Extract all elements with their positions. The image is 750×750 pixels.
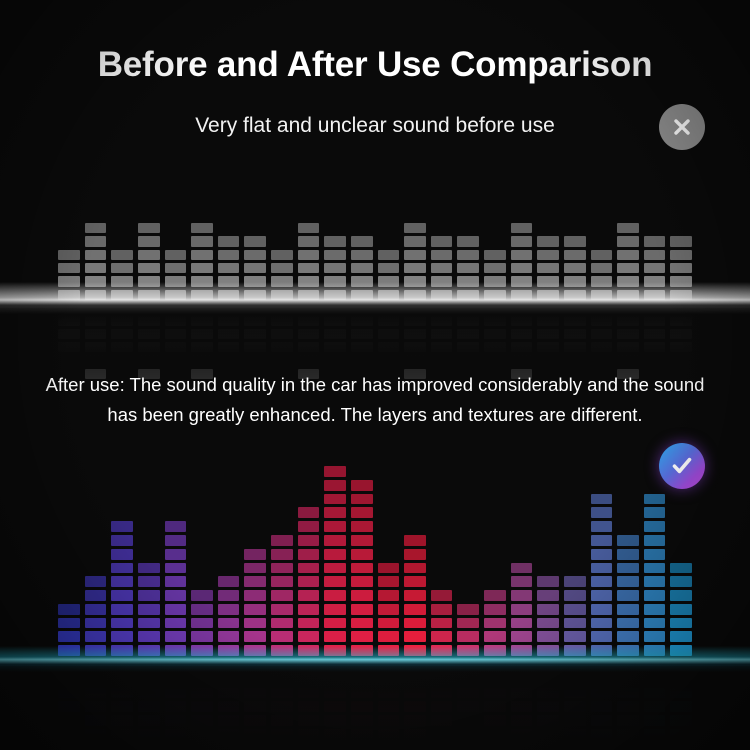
equalizer-segment bbox=[670, 329, 692, 339]
equalizer-segment bbox=[138, 688, 160, 699]
equalizer-segment bbox=[564, 250, 586, 260]
equalizer-segment bbox=[457, 674, 479, 685]
equalizer-segment bbox=[591, 715, 613, 726]
equalizer-segment bbox=[138, 315, 160, 325]
equalizer-segment bbox=[591, 535, 613, 546]
equalizer-segment bbox=[271, 342, 293, 352]
equalizer-segment bbox=[351, 590, 373, 601]
equalizer-segment bbox=[58, 688, 80, 699]
equalizer-segment bbox=[617, 604, 639, 615]
equalizer-column bbox=[271, 466, 293, 656]
equalizer-segment bbox=[271, 631, 293, 642]
equalizer-segment bbox=[218, 576, 240, 587]
after-description: After use: The sound quality in the car … bbox=[35, 370, 715, 430]
equalizer-segment bbox=[617, 729, 639, 740]
equalizer-segment bbox=[564, 618, 586, 629]
equalizer-segment bbox=[191, 263, 213, 273]
equalizer-segment bbox=[244, 250, 266, 260]
equalizer-column bbox=[138, 196, 160, 300]
equalizer-segment bbox=[111, 604, 133, 615]
equalizer-segment bbox=[537, 715, 559, 726]
equalizer-column bbox=[218, 660, 240, 750]
equalizer-segment bbox=[564, 674, 586, 685]
equalizer-column bbox=[244, 660, 266, 750]
equalizer-segment bbox=[58, 604, 80, 615]
equalizer-segment bbox=[111, 290, 133, 300]
equalizer-segment bbox=[644, 688, 666, 699]
equalizer-segment bbox=[85, 590, 107, 601]
equalizer-column bbox=[404, 466, 426, 656]
equalizer-segment bbox=[298, 604, 320, 615]
equalizer-segment bbox=[298, 521, 320, 532]
equalizer-segment bbox=[244, 674, 266, 685]
equalizer-segment bbox=[191, 290, 213, 300]
equalizer-segment bbox=[298, 576, 320, 587]
equalizer-segment bbox=[191, 356, 213, 366]
equalizer-segment bbox=[111, 631, 133, 642]
equalizer-segment bbox=[404, 729, 426, 740]
equalizer-segment bbox=[324, 576, 346, 587]
equalizer-segment bbox=[404, 631, 426, 642]
equalizer-segment bbox=[138, 276, 160, 286]
equalizer-segment bbox=[324, 250, 346, 260]
equalizer-segment bbox=[298, 236, 320, 246]
equalizer-segment bbox=[191, 631, 213, 642]
equalizer-segment bbox=[378, 590, 400, 601]
equalizer-segment bbox=[324, 494, 346, 505]
equalizer-column bbox=[378, 466, 400, 656]
equalizer-segment bbox=[404, 688, 426, 699]
equalizer-segment bbox=[644, 236, 666, 246]
equalizer-segment bbox=[58, 342, 80, 352]
equalizer-segment bbox=[404, 645, 426, 656]
equalizer-segment bbox=[58, 250, 80, 260]
equalizer-segment bbox=[324, 329, 346, 339]
equalizer-column bbox=[244, 466, 266, 656]
equalizer-segment bbox=[617, 631, 639, 642]
equalizer-segment bbox=[644, 604, 666, 615]
equalizer-segment bbox=[404, 576, 426, 587]
equalizer-segment bbox=[298, 743, 320, 750]
equalizer-column bbox=[511, 466, 533, 656]
equalizer-segment bbox=[431, 715, 453, 726]
equalizer-segment bbox=[537, 688, 559, 699]
equalizer-segment bbox=[564, 645, 586, 656]
equalizer-segment bbox=[298, 701, 320, 712]
equalizer-segment bbox=[511, 276, 533, 286]
equalizer-segment bbox=[58, 631, 80, 642]
equalizer-segment bbox=[564, 236, 586, 246]
equalizer-segment bbox=[351, 507, 373, 518]
equalizer-segment bbox=[85, 356, 107, 366]
equalizer-segment bbox=[670, 563, 692, 574]
equalizer-segment bbox=[351, 250, 373, 260]
equalizer-segment bbox=[511, 250, 533, 260]
equalizer-segment bbox=[85, 688, 107, 699]
equalizer-segment bbox=[484, 329, 506, 339]
equalizer-segment bbox=[351, 480, 373, 491]
equalizer-segment bbox=[324, 342, 346, 352]
equalizer-segment bbox=[431, 329, 453, 339]
equalizer-segment bbox=[537, 576, 559, 587]
equalizer-segment bbox=[191, 618, 213, 629]
equalizer-segment bbox=[670, 645, 692, 656]
equalizer-segment bbox=[138, 356, 160, 366]
equalizer-segment bbox=[511, 743, 533, 750]
equalizer-segment bbox=[591, 618, 613, 629]
equalizer-segment bbox=[298, 329, 320, 339]
equalizer-segment bbox=[591, 701, 613, 712]
equalizer-segment bbox=[324, 563, 346, 574]
equalizer-segment bbox=[404, 743, 426, 750]
equalizer-column bbox=[351, 196, 373, 300]
equalizer-segment bbox=[351, 236, 373, 246]
equalizer-column bbox=[58, 466, 80, 656]
equalizer-segment bbox=[511, 618, 533, 629]
equalizer-segment bbox=[165, 729, 187, 740]
equalizer-segment bbox=[58, 263, 80, 273]
equalizer-segment bbox=[58, 315, 80, 325]
equalizer-segment bbox=[591, 494, 613, 505]
equalizer-column bbox=[511, 196, 533, 300]
equalizer-segment bbox=[564, 660, 586, 671]
equalizer-segment bbox=[484, 715, 506, 726]
equalizer-segment bbox=[484, 645, 506, 656]
equalizer-segment bbox=[218, 290, 240, 300]
equalizer-segment bbox=[484, 618, 506, 629]
equalizer-segment bbox=[351, 276, 373, 286]
equalizer-segment bbox=[351, 494, 373, 505]
equalizer-segment bbox=[244, 276, 266, 286]
equalizer-segment bbox=[537, 276, 559, 286]
equalizer-segment bbox=[644, 576, 666, 587]
equalizer-segment bbox=[378, 263, 400, 273]
equalizer-segment bbox=[404, 329, 426, 339]
equalizer-segment bbox=[324, 521, 346, 532]
page-title: Before and After Use Comparison bbox=[0, 45, 750, 85]
equalizer-segment bbox=[457, 604, 479, 615]
equalizer-column bbox=[617, 466, 639, 656]
equalizer-segment bbox=[511, 342, 533, 352]
equalizer-segment bbox=[298, 729, 320, 740]
equalizer-segment bbox=[298, 715, 320, 726]
equalizer-column bbox=[218, 196, 240, 300]
equalizer-segment bbox=[351, 290, 373, 300]
equalizer-segment bbox=[85, 263, 107, 273]
equalizer-segment bbox=[591, 660, 613, 671]
equalizer-segment bbox=[378, 701, 400, 712]
equalizer-column bbox=[484, 196, 506, 300]
equalizer-segment bbox=[165, 521, 187, 532]
equalizer-segment bbox=[138, 618, 160, 629]
equalizer-segment bbox=[111, 590, 133, 601]
equalizer-segment bbox=[484, 302, 506, 312]
equalizer-segment bbox=[378, 276, 400, 286]
equalizer-segment bbox=[244, 315, 266, 325]
equalizer-segment bbox=[564, 315, 586, 325]
equalizer-segment bbox=[644, 276, 666, 286]
equalizer-segment bbox=[218, 342, 240, 352]
equalizer-segment bbox=[404, 315, 426, 325]
equalizer-segment bbox=[431, 302, 453, 312]
equalizer-segment bbox=[138, 729, 160, 740]
equalizer-segment bbox=[644, 715, 666, 726]
equalizer-segment bbox=[537, 618, 559, 629]
equalizer-segment bbox=[271, 729, 293, 740]
equalizer-segment bbox=[378, 290, 400, 300]
equalizer-segment bbox=[511, 563, 533, 574]
equalizer-segment bbox=[670, 263, 692, 273]
equalizer-segment bbox=[404, 276, 426, 286]
equalizer-segment bbox=[617, 549, 639, 560]
equalizer-segment bbox=[218, 604, 240, 615]
equalizer-segment bbox=[644, 263, 666, 273]
equalizer-segment bbox=[271, 250, 293, 260]
equalizer-segment bbox=[351, 618, 373, 629]
equalizer-column bbox=[457, 196, 479, 300]
equalizer-segment bbox=[191, 660, 213, 671]
equalizer-segment bbox=[537, 315, 559, 325]
equalizer-column bbox=[191, 466, 213, 656]
equalizer-segment bbox=[591, 674, 613, 685]
equalizer-segment bbox=[644, 494, 666, 505]
equalizer-segment bbox=[404, 715, 426, 726]
equalizer-segment bbox=[324, 674, 346, 685]
equalizer-segment bbox=[165, 701, 187, 712]
equalizer-column bbox=[58, 196, 80, 300]
equalizer-segment bbox=[271, 674, 293, 685]
equalizer-segment bbox=[591, 521, 613, 532]
equalizer-segment bbox=[644, 521, 666, 532]
equalizer-segment bbox=[591, 276, 613, 286]
equalizer-segment bbox=[670, 715, 692, 726]
equalizer-segment bbox=[191, 329, 213, 339]
equalizer-segment bbox=[218, 263, 240, 273]
equalizer-segment bbox=[431, 618, 453, 629]
equalizer-segment bbox=[537, 660, 559, 671]
equalizer-segment bbox=[644, 631, 666, 642]
equalizer-segment bbox=[165, 688, 187, 699]
equalizer-column bbox=[537, 660, 559, 750]
equalizer-segment bbox=[617, 674, 639, 685]
equalizer-segment bbox=[218, 236, 240, 246]
equalizer-segment bbox=[165, 276, 187, 286]
equalizer-segment bbox=[244, 645, 266, 656]
equalizer-column bbox=[85, 660, 107, 750]
equalizer-segment bbox=[484, 342, 506, 352]
equalizer-segment bbox=[191, 674, 213, 685]
equalizer-segment bbox=[138, 290, 160, 300]
equalizer-segment bbox=[537, 290, 559, 300]
equalizer-segment bbox=[378, 715, 400, 726]
equalizer-segment bbox=[351, 688, 373, 699]
equalizer-segment bbox=[670, 290, 692, 300]
equalizer-segment bbox=[591, 631, 613, 642]
equalizer-segment bbox=[271, 329, 293, 339]
equalizer-segment bbox=[378, 618, 400, 629]
equalizer-segment bbox=[271, 645, 293, 656]
equalizer-column bbox=[111, 196, 133, 300]
equalizer-segment bbox=[111, 263, 133, 273]
equalizer-segment bbox=[617, 342, 639, 352]
equalizer-segment bbox=[591, 688, 613, 699]
equalizer-column bbox=[244, 196, 266, 300]
equalizer-segment bbox=[404, 223, 426, 233]
equalizer-segment bbox=[138, 590, 160, 601]
equalizer-segment bbox=[138, 563, 160, 574]
equalizer-segment bbox=[85, 290, 107, 300]
equalizer-column bbox=[218, 466, 240, 656]
equalizer-column bbox=[111, 660, 133, 750]
equalizer-segment bbox=[111, 535, 133, 546]
equalizer-segment bbox=[85, 674, 107, 685]
equalizer-segment bbox=[244, 342, 266, 352]
equalizer-segment bbox=[244, 302, 266, 312]
equalizer-segment bbox=[404, 701, 426, 712]
equalizer-segment bbox=[617, 302, 639, 312]
equalizer-segment bbox=[85, 276, 107, 286]
equalizer-segment bbox=[537, 236, 559, 246]
equalizer-segment bbox=[351, 521, 373, 532]
equalizer-segment bbox=[404, 660, 426, 671]
equalizer-segment bbox=[351, 576, 373, 587]
equalizer-column bbox=[564, 466, 586, 656]
equalizer-segment bbox=[431, 315, 453, 325]
equalizer-segment bbox=[484, 660, 506, 671]
equalizer-segment bbox=[564, 356, 586, 366]
equalizer-segment bbox=[378, 329, 400, 339]
equalizer-segment bbox=[138, 329, 160, 339]
equalizer-segment bbox=[165, 329, 187, 339]
equalizer-segment bbox=[404, 342, 426, 352]
equalizer-segment bbox=[644, 729, 666, 740]
equalizer-segment bbox=[165, 631, 187, 642]
equalizer-segment bbox=[111, 729, 133, 740]
equalizer-segment bbox=[617, 276, 639, 286]
equalizer-segment bbox=[351, 535, 373, 546]
equalizer-segment bbox=[431, 701, 453, 712]
equalizer-segment bbox=[351, 342, 373, 352]
equalizer-segment bbox=[484, 263, 506, 273]
equalizer-segment bbox=[511, 263, 533, 273]
equalizer-segment bbox=[138, 645, 160, 656]
equalizer-segment bbox=[85, 701, 107, 712]
equalizer-segment bbox=[165, 743, 187, 750]
equalizer-segment bbox=[670, 674, 692, 685]
equalizer-column bbox=[85, 196, 107, 300]
equalizer-segment bbox=[378, 563, 400, 574]
equalizer-segment bbox=[404, 674, 426, 685]
equalizer-segment bbox=[484, 315, 506, 325]
equalizer-segment bbox=[457, 342, 479, 352]
equalizer-segment bbox=[191, 315, 213, 325]
equalizer-segment bbox=[457, 618, 479, 629]
equalizer-segment bbox=[431, 290, 453, 300]
equalizer-segment bbox=[511, 604, 533, 615]
equalizer-segment bbox=[298, 660, 320, 671]
equalizer-segment bbox=[271, 660, 293, 671]
equalizer-segment bbox=[457, 263, 479, 273]
equalizer-segment bbox=[111, 276, 133, 286]
equalizer-segment bbox=[404, 590, 426, 601]
equalizer-segment bbox=[670, 701, 692, 712]
equalizer-column bbox=[324, 196, 346, 300]
equalizer-segment bbox=[218, 688, 240, 699]
equalizer-segment bbox=[85, 302, 107, 312]
equalizer-segment bbox=[165, 549, 187, 560]
equalizer-segment bbox=[191, 276, 213, 286]
equalizer-column bbox=[511, 660, 533, 750]
equalizer-segment bbox=[378, 604, 400, 615]
equalizer-segment bbox=[457, 276, 479, 286]
equalizer-segment bbox=[165, 563, 187, 574]
equalizer-segment bbox=[271, 576, 293, 587]
equalizer-column bbox=[324, 660, 346, 750]
equalizer-segment bbox=[617, 743, 639, 750]
equalizer-segment bbox=[617, 263, 639, 273]
equalizer-segment bbox=[351, 356, 373, 366]
equalizer-segment bbox=[457, 660, 479, 671]
product-comparison-banner: Before and After Use Comparison Very fla… bbox=[0, 0, 750, 750]
equalizer-segment bbox=[351, 674, 373, 685]
equalizer-segment bbox=[484, 276, 506, 286]
equalizer-segment bbox=[138, 743, 160, 750]
equalizer-segment bbox=[591, 290, 613, 300]
equalizer-segment bbox=[644, 743, 666, 750]
equalizer-segment bbox=[617, 290, 639, 300]
equalizer-segment bbox=[351, 631, 373, 642]
equalizer-segment bbox=[218, 618, 240, 629]
equalizer-segment bbox=[457, 236, 479, 246]
equalizer-segment bbox=[591, 563, 613, 574]
equalizer-segment bbox=[591, 549, 613, 560]
equalizer-column bbox=[644, 660, 666, 750]
equalizer-column bbox=[670, 196, 692, 300]
equalizer-segment bbox=[431, 631, 453, 642]
equalizer-column bbox=[644, 466, 666, 656]
equalizer-segment bbox=[537, 674, 559, 685]
equalizer-segment bbox=[591, 576, 613, 587]
equalizer-segment bbox=[670, 302, 692, 312]
equalizer-segment bbox=[191, 715, 213, 726]
equalizer-segment bbox=[111, 715, 133, 726]
equalizer-segment bbox=[378, 688, 400, 699]
equalizer-segment bbox=[191, 590, 213, 601]
equalizer-segment bbox=[404, 535, 426, 546]
equalizer-segment bbox=[537, 729, 559, 740]
equalizer-segment bbox=[431, 276, 453, 286]
equalizer-segment bbox=[138, 223, 160, 233]
equalizer-segment bbox=[271, 535, 293, 546]
equalizer-segment bbox=[218, 590, 240, 601]
equalizer-column bbox=[591, 466, 613, 656]
equalizer-segment bbox=[351, 563, 373, 574]
equalizer-segment bbox=[58, 701, 80, 712]
equalizer-segment bbox=[165, 590, 187, 601]
equalizer-segment bbox=[191, 604, 213, 615]
equalizer-segment bbox=[165, 715, 187, 726]
equalizer-column bbox=[111, 466, 133, 656]
equalizer-segment bbox=[298, 302, 320, 312]
equalizer-segment bbox=[244, 263, 266, 273]
before-subtitle: Very flat and unclear sound before use bbox=[0, 114, 750, 138]
equalizer-segment bbox=[511, 645, 533, 656]
equalizer-segment bbox=[537, 604, 559, 615]
equalizer-segment bbox=[111, 521, 133, 532]
equalizer-column bbox=[298, 196, 320, 300]
equalizer-segment bbox=[111, 660, 133, 671]
equalizer-segment bbox=[324, 549, 346, 560]
